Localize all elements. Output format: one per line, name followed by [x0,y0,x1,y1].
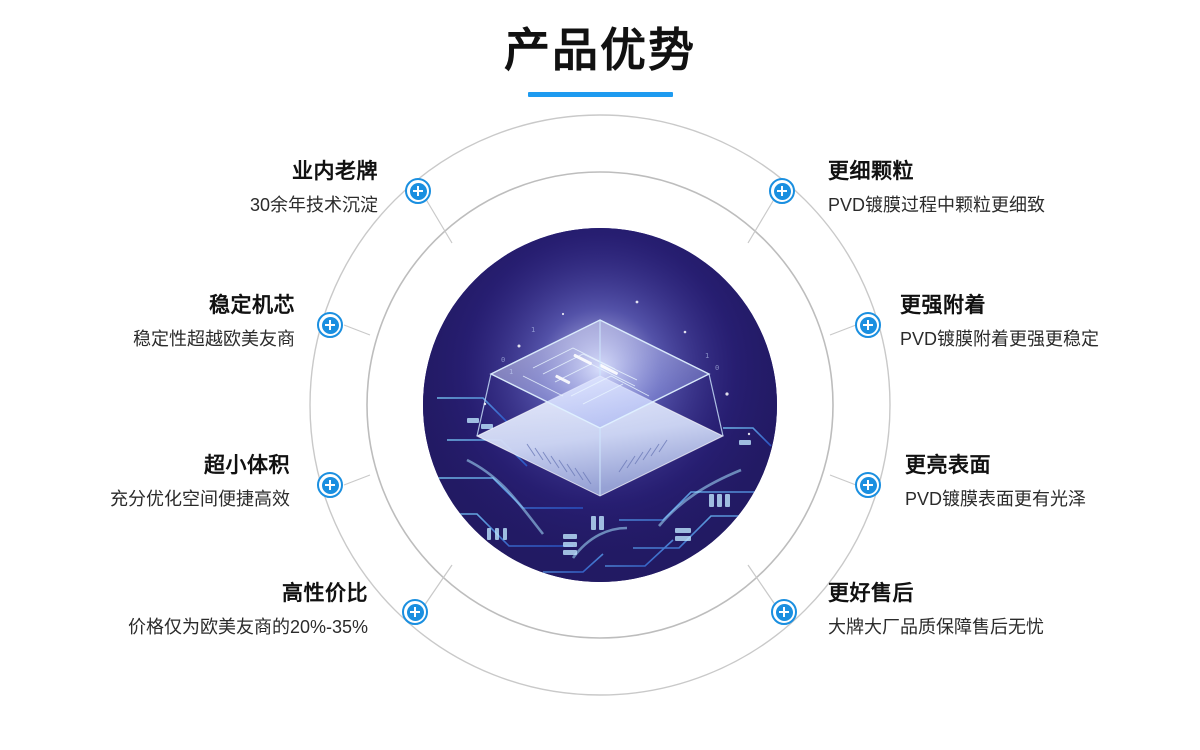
plus-circle-icon-left-2[interactable] [317,312,343,338]
plus-icon-glyph [774,183,791,200]
feature-title: 超小体积 [0,452,290,479]
feature-right-2: 更强附着 PVD镀膜附着更强更稳定 [900,292,1200,352]
plus-icon-glyph [860,477,877,494]
feature-desc: PVD镀膜过程中颗粒更细致 [828,193,1168,217]
feature-title: 业内老牌 [38,158,378,185]
feature-title: 更好售后 [828,580,1168,607]
plus-circle-icon-left-4[interactable] [402,599,428,625]
center-chip-image: 0 1 1 0 1 [423,228,777,582]
feature-title: 更亮表面 [905,452,1200,479]
feature-desc: PVD镀膜附着更强更稳定 [900,327,1200,351]
plus-circle-icon-right-4[interactable] [771,599,797,625]
feature-title: 稳定机芯 [0,292,295,319]
plus-circle-icon-right-3[interactable] [855,472,881,498]
feature-right-1: 更细颗粒 PVD镀膜过程中颗粒更细致 [828,158,1168,218]
svg-text:1: 1 [509,368,513,376]
plus-icon-glyph [322,317,339,334]
chip-circuit-illustration: 0 1 1 0 1 [423,228,777,582]
feature-left-3: 超小体积 充分优化空间便捷高效 [0,452,290,512]
plus-icon-glyph [776,604,793,621]
plus-icon-glyph [407,604,424,621]
svg-text:0: 0 [501,356,505,364]
plus-icon-glyph [860,317,877,334]
feature-left-4: 高性价比 价格仅为欧美友商的20%-35% [28,580,368,640]
feature-desc: 大牌大厂品质保障售后无忧 [828,615,1168,639]
svg-text:0: 0 [715,364,719,372]
feature-right-4: 更好售后 大牌大厂品质保障售后无忧 [828,580,1168,640]
plus-icon-glyph [410,183,427,200]
svg-text:1: 1 [531,326,535,334]
plus-circle-icon-right-1[interactable] [769,178,795,204]
plus-icon-glyph [322,477,339,494]
feature-desc: 稳定性超越欧美友商 [0,327,295,351]
feature-title: 更细颗粒 [828,158,1168,185]
plus-circle-icon-right-2[interactable] [855,312,881,338]
feature-left-2: 稳定机芯 稳定性超越欧美友商 [0,292,295,352]
feature-left-1: 业内老牌 30余年技术沉淀 [38,158,378,218]
feature-desc: PVD镀膜表面更有光泽 [905,487,1200,511]
feature-title: 高性价比 [28,580,368,607]
feature-title: 更强附着 [900,292,1200,319]
feature-desc: 价格仅为欧美友商的20%-35% [28,615,368,639]
feature-desc: 充分优化空间便捷高效 [0,487,290,511]
plus-circle-icon-left-3[interactable] [317,472,343,498]
feature-right-3: 更亮表面 PVD镀膜表面更有光泽 [905,452,1200,512]
svg-text:1: 1 [705,352,709,360]
product-advantages-diagram: 0 1 1 0 1 业内老牌 30余年技术沉淀 稳定机芯 稳定性超越欧美友商 超… [0,0,1200,750]
plus-circle-icon-left-1[interactable] [405,178,431,204]
feature-desc: 30余年技术沉淀 [38,193,378,217]
